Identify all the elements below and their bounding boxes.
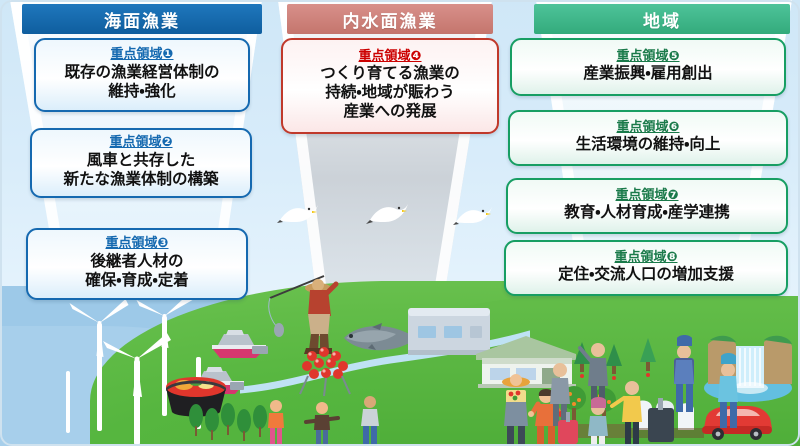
card-2-tag: 重点領域❷ — [109, 134, 172, 150]
card-7[interactable]: 重点領域❼ 教育・人材育成・産学連携 — [506, 178, 788, 234]
people-center-group — [258, 396, 388, 446]
card-3-text: 後継者人材の 確保・育成・定着 — [85, 253, 189, 291]
card-4[interactable]: 重点領域❹ つくり育てる漁業の 持続・地域が賑わう 産業への発展 — [281, 38, 499, 134]
column-header-sea: 海面漁業 — [22, 4, 262, 34]
card-1[interactable]: 重点領域❶ 既存の漁業経営体制の 維持・強化 — [34, 38, 250, 112]
card-2[interactable]: 重点領域❷ 風車と共存した 新たな漁業体制の構築 — [30, 128, 252, 198]
card-4-tag: 重点領域❹ — [358, 48, 421, 64]
seagull-left — [276, 200, 320, 228]
column-header-region: 地域 — [534, 4, 790, 34]
card-3[interactable]: 重点領域❸ 後継者人材の 確保・育成・定着 — [26, 228, 248, 300]
card-5-tag: 重点領域❺ — [616, 48, 679, 64]
column-title-region: 地域 — [643, 7, 681, 32]
card-3-tag: 重点領域❸ — [105, 235, 168, 251]
column-title-inland: 内水面漁業 — [343, 7, 438, 32]
card-7-tag: 重点領域❼ — [615, 187, 678, 203]
card-2-text: 風車と共存した 新たな漁業体制の構築 — [63, 152, 218, 190]
card-1-text: 既存の漁業経営体制の 維持・強化 — [64, 64, 219, 102]
seagull-center — [364, 198, 410, 228]
card-8-tag: 重点領域❽ — [614, 249, 677, 265]
card-8-text: 定住・交流人口の増加支援 — [558, 266, 734, 285]
card-8[interactable]: 重点領域❽ 定住・交流人口の増加支援 — [504, 240, 788, 296]
card-7-text: 教育・人材育成・産学連携 — [564, 204, 730, 223]
card-6-text: 生活環境の維持・向上 — [576, 136, 721, 155]
salmon-roe-cluster — [298, 346, 360, 398]
card-5[interactable]: 重点領域❺ 産業振興・雇用創出 — [510, 38, 786, 96]
infographic-root: 海面漁業 内水面漁業 地域 重点領域❶ 既存の漁業経営体制の 維持・強化 重点領… — [0, 0, 800, 446]
tourists-group — [536, 324, 800, 446]
card-6-tag: 重点領域❻ — [616, 119, 679, 135]
card-5-text: 産業振興・雇用創出 — [583, 65, 712, 84]
card-1-tag: 重点領域❶ — [110, 46, 173, 62]
column-title-sea: 海面漁業 — [104, 7, 180, 32]
column-header-inland: 内水面漁業 — [287, 4, 493, 34]
card-4-text: つくり育てる漁業の 持続・地域が賑わう 産業への発展 — [320, 65, 460, 122]
seagull-right — [452, 202, 494, 230]
card-6[interactable]: 重点領域❻ 生活環境の維持・向上 — [508, 110, 788, 166]
